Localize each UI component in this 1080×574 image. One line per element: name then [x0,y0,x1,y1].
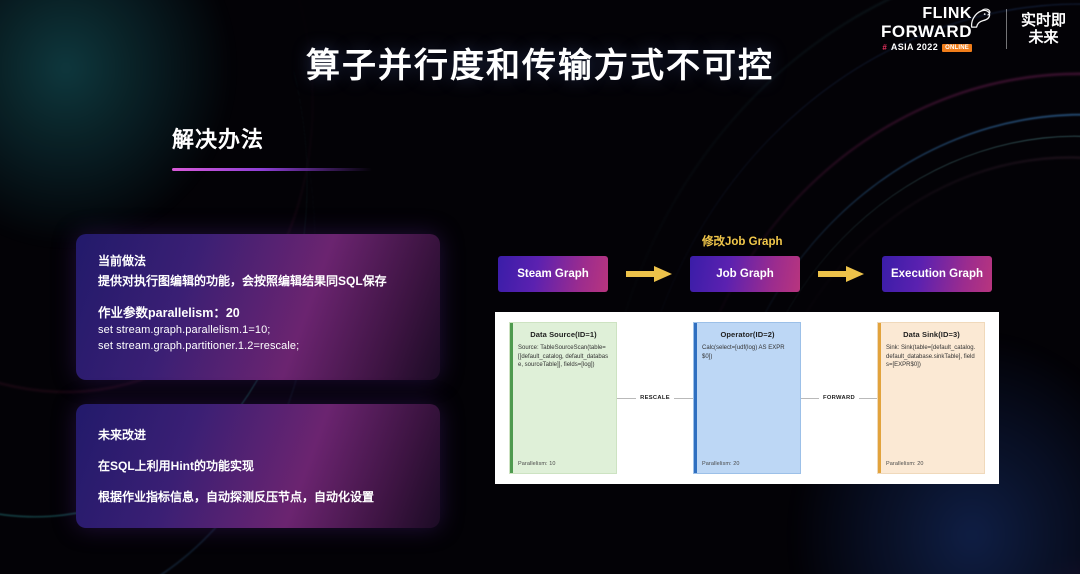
slogan-line-1: 实时即 [1021,12,1066,29]
node-body: Sink: Sink(table=[default_catalog.defaul… [886,344,977,461]
current-approach-title: 当前做法 [98,252,418,269]
job-graph-canvas: Data Source(ID=1) Source: TableSourceSca… [509,322,985,474]
job-graph-panel: Data Source(ID=1) Source: TableSourceSca… [495,312,999,484]
section-heading-rule [172,168,372,171]
edge-label: RESCALE [636,395,674,401]
graph-edge-rescale: RESCALE [617,322,693,474]
arrow-right-icon [818,266,864,282]
flow-arrow-1 [608,266,690,282]
node-title: Data Source(ID=1) [518,330,609,339]
node-title: Operator(ID=2) [702,330,793,339]
slide-root: FLINK FORWARD # ASIA 2022 ONLINE 实时即 未来 … [0,0,1080,574]
flow-box-job-graph[interactable]: Job Graph [690,256,800,292]
section-heading-label: 解决办法 [172,122,372,154]
flow-arrow-2 [800,266,882,282]
node-body: Calc(select=[udf(log) AS EXPR$0]) [702,344,793,461]
future-improvement-card: 未来改进 在SQL上利用Hint的功能实现 根据作业指标信息，自动探测反压节点，… [76,404,440,528]
node-body: Source: TableSourceScan(table=[[default_… [518,344,609,461]
flow-box-stream-graph[interactable]: Steam Graph [498,256,608,292]
flow-annotation-label: 修改Job Graph [702,233,783,249]
current-approach-desc: 提供对执行图编辑的功能，会按照编辑结果同SQL保存 [98,272,418,290]
spacer [98,290,418,302]
edge-label: FORWARD [819,395,859,401]
section-heading: 解决办法 [172,122,372,171]
graph-node-data-source[interactable]: Data Source(ID=1) Source: TableSourceSca… [509,322,617,474]
node-parallelism: Parallelism: 20 [886,461,977,467]
sql-hint-line-1: set stream.graph.parallelism.1=10; [98,323,418,339]
sql-hint-line-2: set stream.graph.partitioner.1.2=rescale… [98,339,418,355]
node-title: Data Sink(ID=3) [886,330,977,339]
node-parallelism: Parallelism: 10 [518,461,609,467]
flow-box-execution-graph[interactable]: Execution Graph [882,256,992,292]
current-approach-card: 当前做法 提供对执行图编辑的功能，会按照编辑结果同SQL保存 作业参数paral… [76,234,440,380]
page-title: 算子并行度和传输方式不可控 [0,38,1080,87]
future-improvement-point-1: 在SQL上利用Hint的功能实现 [98,457,418,474]
future-improvement-point-2: 根据作业指标信息，自动探测反压节点，自动化设置 [98,488,418,505]
graph-edge-forward: FORWARD [801,322,877,474]
graph-node-operator[interactable]: Operator(ID=2) Calc(select=[udf(log) AS … [693,322,801,474]
future-improvement-title: 未来改进 [98,426,418,443]
logo-line-flink: FLINK [881,6,972,22]
node-parallelism: Parallelism: 20 [702,461,793,467]
arrow-right-icon [626,266,672,282]
squirrel-icon [966,6,992,32]
job-parallelism-param: 作业参数parallelism：20 [98,302,418,321]
graph-pipeline-flow: Steam Graph Job Graph Execution Graph [498,256,992,292]
graph-node-data-sink[interactable]: Data Sink(ID=3) Sink: Sink(table=[defaul… [877,322,985,474]
